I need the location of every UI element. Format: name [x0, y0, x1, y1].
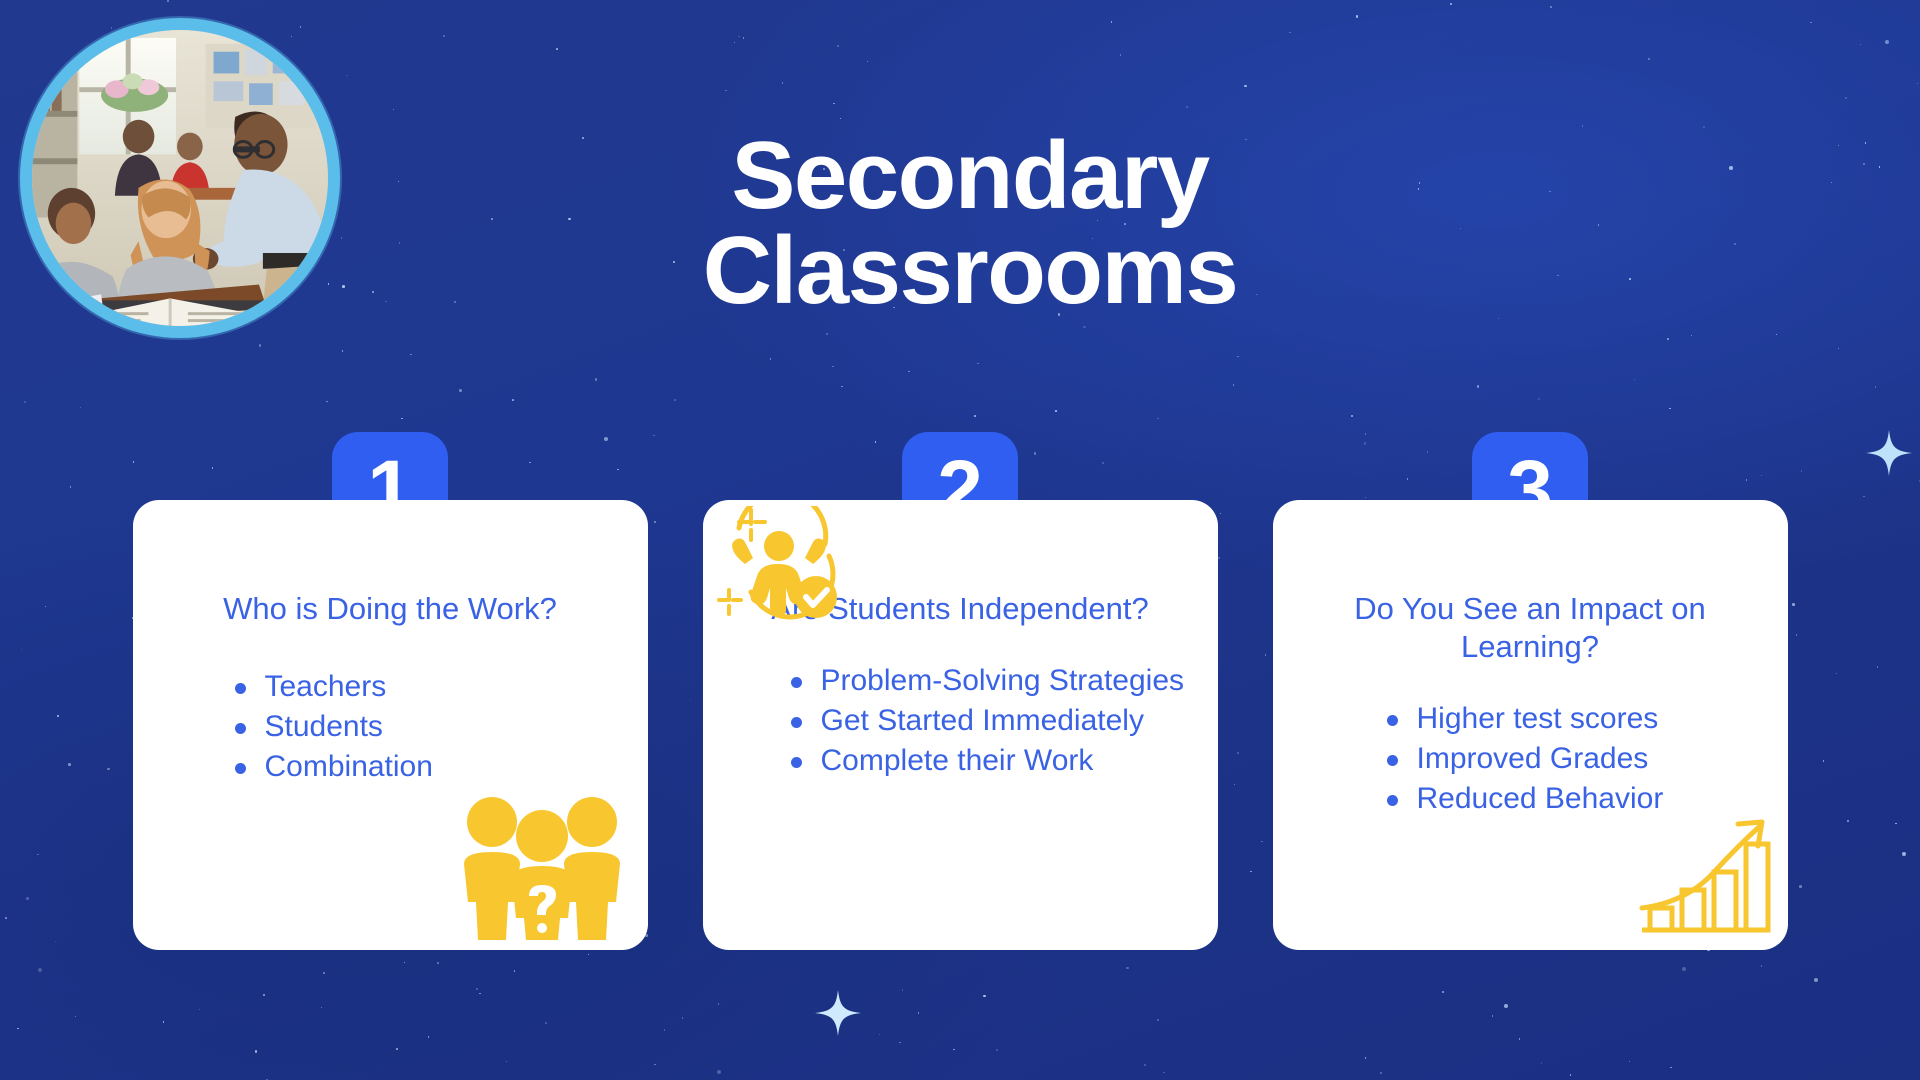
title-line-1: Secondary — [640, 128, 1300, 223]
classroom-photo-illustration — [32, 30, 328, 326]
list-item: Problem-Solving Strategies — [789, 662, 1188, 700]
classroom-photo-ring — [20, 18, 340, 338]
slide-canvas: Secondary Classrooms 1 Who is Doing the … — [0, 0, 1920, 1080]
sparkle-icon-right — [1866, 430, 1912, 476]
list-item: Get Started Immediately — [789, 702, 1188, 740]
list-item: Combination — [233, 748, 618, 786]
card-2[interactable]: Are Students Independent? Problem-Solvin… — [703, 500, 1218, 950]
card-slot-2: 2 Are Students Independent? — [703, 500, 1218, 950]
card-bullets-3: Higher test scores Improved Grades Reduc… — [1303, 700, 1758, 818]
card-slot-1: 1 Who is Doing the Work? Teachers Studen… — [133, 500, 648, 950]
card-title-1: Who is Doing the Work? — [163, 590, 618, 628]
card-slot-3: 3 Do You See an Impact on Learning? High… — [1273, 500, 1788, 950]
card-bullets-2: Problem-Solving Strategies Get Started I… — [733, 662, 1188, 780]
title-line-2: Classrooms — [640, 223, 1300, 318]
list-item: Students — [233, 708, 618, 746]
sparkle-icon-bottom — [815, 990, 861, 1036]
list-item: Improved Grades — [1385, 740, 1758, 778]
list-item: Complete their Work — [789, 742, 1188, 780]
card-bullets-1: Teachers Students Combination — [163, 668, 618, 786]
cards-row: 1 Who is Doing the Work? Teachers Studen… — [0, 500, 1920, 950]
card-1[interactable]: Who is Doing the Work? Teachers Students… — [133, 500, 648, 950]
list-item: Reduced Behavior — [1385, 780, 1758, 818]
growth-chart-icon — [1638, 814, 1774, 942]
list-item: Teachers — [233, 668, 618, 706]
classroom-photo — [32, 30, 328, 326]
slide-title: Secondary Classrooms — [640, 128, 1300, 318]
people-question-icon — [456, 790, 628, 940]
person-raised-arms-check-icon — [717, 506, 843, 626]
card-3[interactable]: Do You See an Impact on Learning? Higher… — [1273, 500, 1788, 950]
card-title-3: Do You See an Impact on Learning? — [1303, 590, 1758, 666]
list-item: Higher test scores — [1385, 700, 1758, 738]
